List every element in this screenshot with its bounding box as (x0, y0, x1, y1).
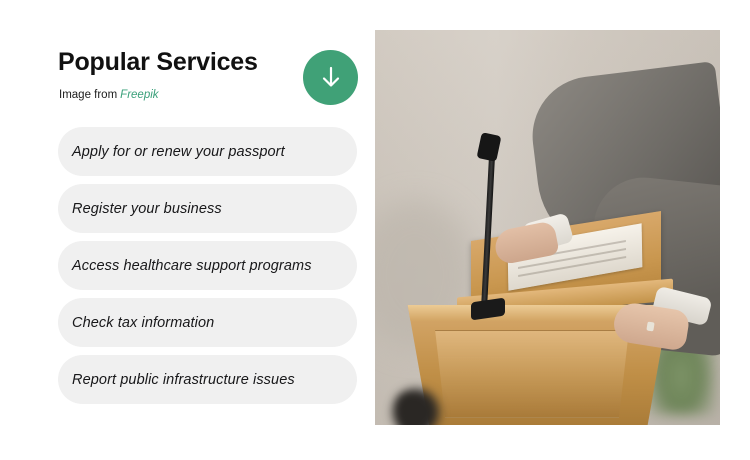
service-label: Check tax information (58, 315, 214, 331)
list-item[interactable]: Apply for or renew your passport (58, 127, 357, 176)
services-list: Apply for or renew your passport Registe… (58, 127, 357, 412)
list-item[interactable]: Check tax information (58, 298, 357, 347)
image-attribution: Image fromFreepik (59, 89, 159, 101)
service-label: Access healthcare support programs (58, 258, 312, 274)
left-column: Popular Services Image fromFreepik Apply… (0, 0, 375, 460)
list-item[interactable]: Access healthcare support programs (58, 241, 357, 290)
page-title: Popular Services (58, 48, 258, 77)
photo-background (375, 30, 720, 425)
download-badge-button[interactable] (303, 50, 358, 105)
wedding-ring (646, 322, 654, 332)
list-item[interactable]: Report public infrastructure issues (58, 355, 357, 404)
attribution-link[interactable]: Freepik (120, 89, 158, 101)
list-item[interactable]: Register your business (58, 184, 357, 233)
service-label: Report public infrastructure issues (58, 372, 295, 388)
arrow-down-icon (319, 65, 343, 91)
microphone-head (477, 132, 502, 162)
service-label: Register your business (58, 201, 222, 217)
attribution-prefix: Image from (59, 89, 117, 101)
page-root: Popular Services Image fromFreepik Apply… (0, 0, 750, 460)
lectern-panel (427, 330, 629, 418)
service-label: Apply for or renew your passport (58, 144, 285, 160)
hero-photo (375, 30, 720, 425)
